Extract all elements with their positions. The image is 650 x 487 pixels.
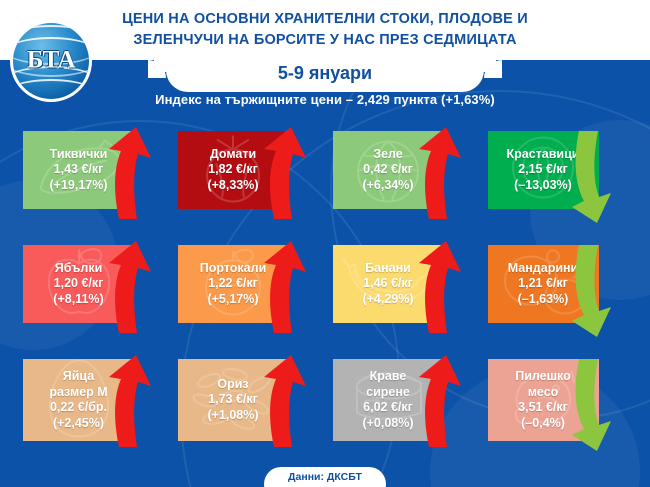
- commodity-name: Портокали: [182, 261, 285, 277]
- commodity-card[interactable]: Кравесирене6,02 €/кг(+0,08%): [333, 359, 444, 441]
- commodity-price: 1,43 €/кг: [27, 162, 130, 178]
- card-text: Зеле0,42 €/кг(+6,34%): [333, 147, 444, 194]
- card-text: Портокали1,22 €/кг(+5,17%): [178, 261, 289, 308]
- commodity-name: Банани: [337, 261, 440, 277]
- commodity-price: 2,15 €/кг: [492, 162, 595, 178]
- commodity-card[interactable]: Домати1,82 €/кг(+8,33%): [178, 131, 289, 209]
- commodity-price: 6,02 €/кг: [337, 400, 440, 416]
- commodity-name: Тиквички: [27, 147, 130, 163]
- commodity-name: Краве: [337, 369, 440, 385]
- commodity-name-line2: сирене: [337, 385, 440, 401]
- card-text: Ябълки1,20 €/кг(+8,11%): [23, 261, 134, 308]
- card-text: Банани1,46 €/кг(+4,29%): [333, 261, 444, 308]
- commodity-change: (+8,33%): [182, 178, 285, 194]
- commodity-card[interactable]: Мандарини1,21 €/кг(–1,63%): [488, 245, 599, 323]
- commodity-price: 1,21 €/кг: [492, 276, 595, 292]
- card-text: Домати1,82 €/кг(+8,33%): [178, 147, 289, 194]
- commodity-price: 0,42 €/кг: [337, 162, 440, 178]
- card-text: Кравесирене6,02 €/кг(+0,08%): [333, 369, 444, 431]
- commodity-change: (+19,17%): [27, 178, 130, 194]
- commodity-change: (+1,08%): [182, 408, 285, 424]
- commodity-card[interactable]: Краставици2,15 €/кг(–13,03%): [488, 131, 599, 209]
- commodity-price: 1,73 €/кг: [182, 392, 285, 408]
- commodity-change: (+0,08%): [337, 416, 440, 432]
- commodity-card[interactable]: Портокали1,22 €/кг(+5,17%): [178, 245, 289, 323]
- source-label: Данни: ДКСБТ: [288, 471, 362, 483]
- commodity-change: (–1,63%): [492, 292, 595, 308]
- commodity-card[interactable]: Ябълки1,20 €/кг(+8,11%): [23, 245, 134, 323]
- commodity-price: 1,82 €/кг: [182, 162, 285, 178]
- commodity-name-line2: размер М: [27, 385, 130, 401]
- commodity-price: 1,22 €/кг: [182, 276, 285, 292]
- commodity-name: Ориз: [182, 377, 285, 393]
- commodity-card[interactable]: Яйцаразмер М0,22 €/бр.(+2,45%): [23, 359, 134, 441]
- commodity-change: (+2,45%): [27, 416, 130, 432]
- card-text: Пилешкомесо3,51 €/кг(–0,4%): [488, 369, 599, 431]
- commodity-name: Домати: [182, 147, 285, 163]
- source-pill: Данни: ДКСБТ: [264, 467, 386, 487]
- commodity-name: Зеле: [337, 147, 440, 163]
- card-text: Краставици2,15 €/кг(–13,03%): [488, 147, 599, 194]
- commodity-name: Мандарини: [492, 261, 595, 277]
- commodity-price: 1,20 €/кг: [27, 276, 130, 292]
- commodity-name-line2: месо: [492, 385, 595, 401]
- commodity-name: Краставици: [492, 147, 595, 163]
- commodity-change: (–13,03%): [492, 178, 595, 194]
- commodity-change: (+4,29%): [337, 292, 440, 308]
- commodity-name: Ябълки: [27, 261, 130, 277]
- commodity-card[interactable]: Пилешкомесо3,51 €/кг(–0,4%): [488, 359, 599, 441]
- commodity-change: (+6,34%): [337, 178, 440, 194]
- commodity-card[interactable]: Тиквички1,43 €/кг(+19,17%): [23, 131, 134, 209]
- commodity-card[interactable]: Ориз1,73 €/кг(+1,08%): [178, 359, 289, 441]
- card-text: Мандарини1,21 €/кг(–1,63%): [488, 261, 599, 308]
- commodity-change: (+5,17%): [182, 292, 285, 308]
- commodity-price: 3,51 €/кг: [492, 400, 595, 416]
- commodity-card[interactable]: Банани1,46 €/кг(+4,29%): [333, 245, 444, 323]
- commodity-name: Яйца: [27, 369, 130, 385]
- commodity-card[interactable]: Зеле0,42 €/кг(+6,34%): [333, 131, 444, 209]
- commodity-change: (–0,4%): [492, 416, 595, 432]
- commodity-price: 0,22 €/бр.: [27, 400, 130, 416]
- commodity-name: Пилешко: [492, 369, 595, 385]
- infographic-root: ЦЕНИ НА ОСНОВНИ ХРАНИТЕЛНИ СТОКИ, ПЛОДОВ…: [0, 0, 650, 487]
- commodity-price: 1,46 €/кг: [337, 276, 440, 292]
- card-text: Ориз1,73 €/кг(+1,08%): [178, 377, 289, 424]
- card-text: Тиквички1,43 €/кг(+19,17%): [23, 147, 134, 194]
- commodity-card-grid: Тиквички1,43 €/кг(+19,17%) Домати1,82 €/…: [0, 0, 650, 487]
- card-text: Яйцаразмер М0,22 €/бр.(+2,45%): [23, 369, 134, 431]
- commodity-change: (+8,11%): [27, 292, 130, 308]
